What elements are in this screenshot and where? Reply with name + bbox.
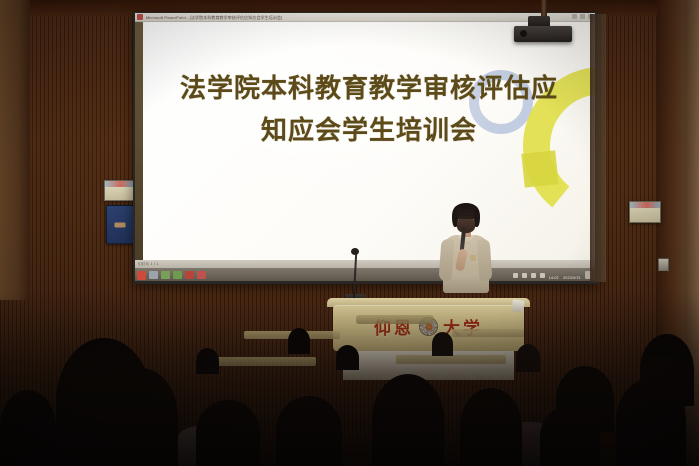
slide-canvas: 法学院本科教育教学审核评估应 知应会学生培训会 · · · · · [143,22,595,268]
slide-title-line1: 法学院本科教育教学审核评估应 [180,74,558,104]
slide-title: 法学院本科教育教学审核评估应 知应会学生培训会 [143,68,595,152]
lecture-hall-photo: Microsoft PowerPoint - [法学院本科教育教学审核评估应知应… [0,0,699,466]
window-title: Microsoft PowerPoint - [法学院本科教育教学审核评估应知应… [146,13,282,22]
tray-icon-volume[interactable] [522,273,527,278]
projector-lens-icon [520,30,527,37]
minimize-icon[interactable] [572,14,577,19]
taskbar-icon-start[interactable] [137,271,146,280]
notice-board-plate [115,223,126,228]
audience-shadow-gradient [0,291,699,466]
clock-time: 14:02 [549,276,559,280]
windows-taskbar[interactable]: 14:02 2023/9/21 [135,268,595,281]
projection-screen: Microsoft PowerPoint - [法学院本科教育教学审核评估应知应… [135,13,595,281]
poster-body [105,187,133,200]
poster-body [630,208,660,222]
slide-title-line2: 知应会学生培训会 [143,110,595,152]
presenter-shirt-logo [470,255,476,261]
wall-light-switch[interactable] [658,258,669,271]
presenter [437,205,495,300]
maximize-icon[interactable] [580,14,585,19]
tray-icon-security[interactable] [540,273,545,278]
clock-date: 2023/9/21 [563,276,581,280]
audience-seating [0,291,699,466]
taskbar-items[interactable] [135,269,206,281]
taskbar-icon-folder[interactable] [161,271,170,279]
system-tray[interactable]: 14:02 2023/9/21 [513,266,595,281]
taskbar-clock[interactable]: 14:02 2023/9/21 [549,266,581,281]
presenter-right-arm [477,239,493,282]
tray-icon-input-method[interactable] [531,273,536,278]
wall-poster-right [629,201,661,223]
podium-microphone-icon [351,248,359,255]
screen-edge-shadow [590,14,606,282]
taskbar-icon-pdf[interactable] [185,271,194,279]
slide-thumbnail-pane[interactable] [135,22,143,268]
wall-poster-left [104,180,134,201]
tray-icon-network[interactable] [513,273,518,278]
taskbar-icon-browser[interactable] [173,271,182,279]
wall-left-column [0,0,30,300]
face-mask-icon [457,219,475,233]
taskbar-icon-powerpoint[interactable] [197,271,206,279]
powerpoint-icon [137,14,143,20]
taskbar-icon-explorer[interactable] [149,271,158,279]
wall-notice-board [106,205,134,244]
slide-counter: 幻灯片 1 / 1 [138,262,159,267]
powerpoint-title-bar: Microsoft PowerPoint - [法学院本科教育教学审核评估应知应… [135,13,595,22]
decoration-ring-yellow-patch [521,150,558,187]
